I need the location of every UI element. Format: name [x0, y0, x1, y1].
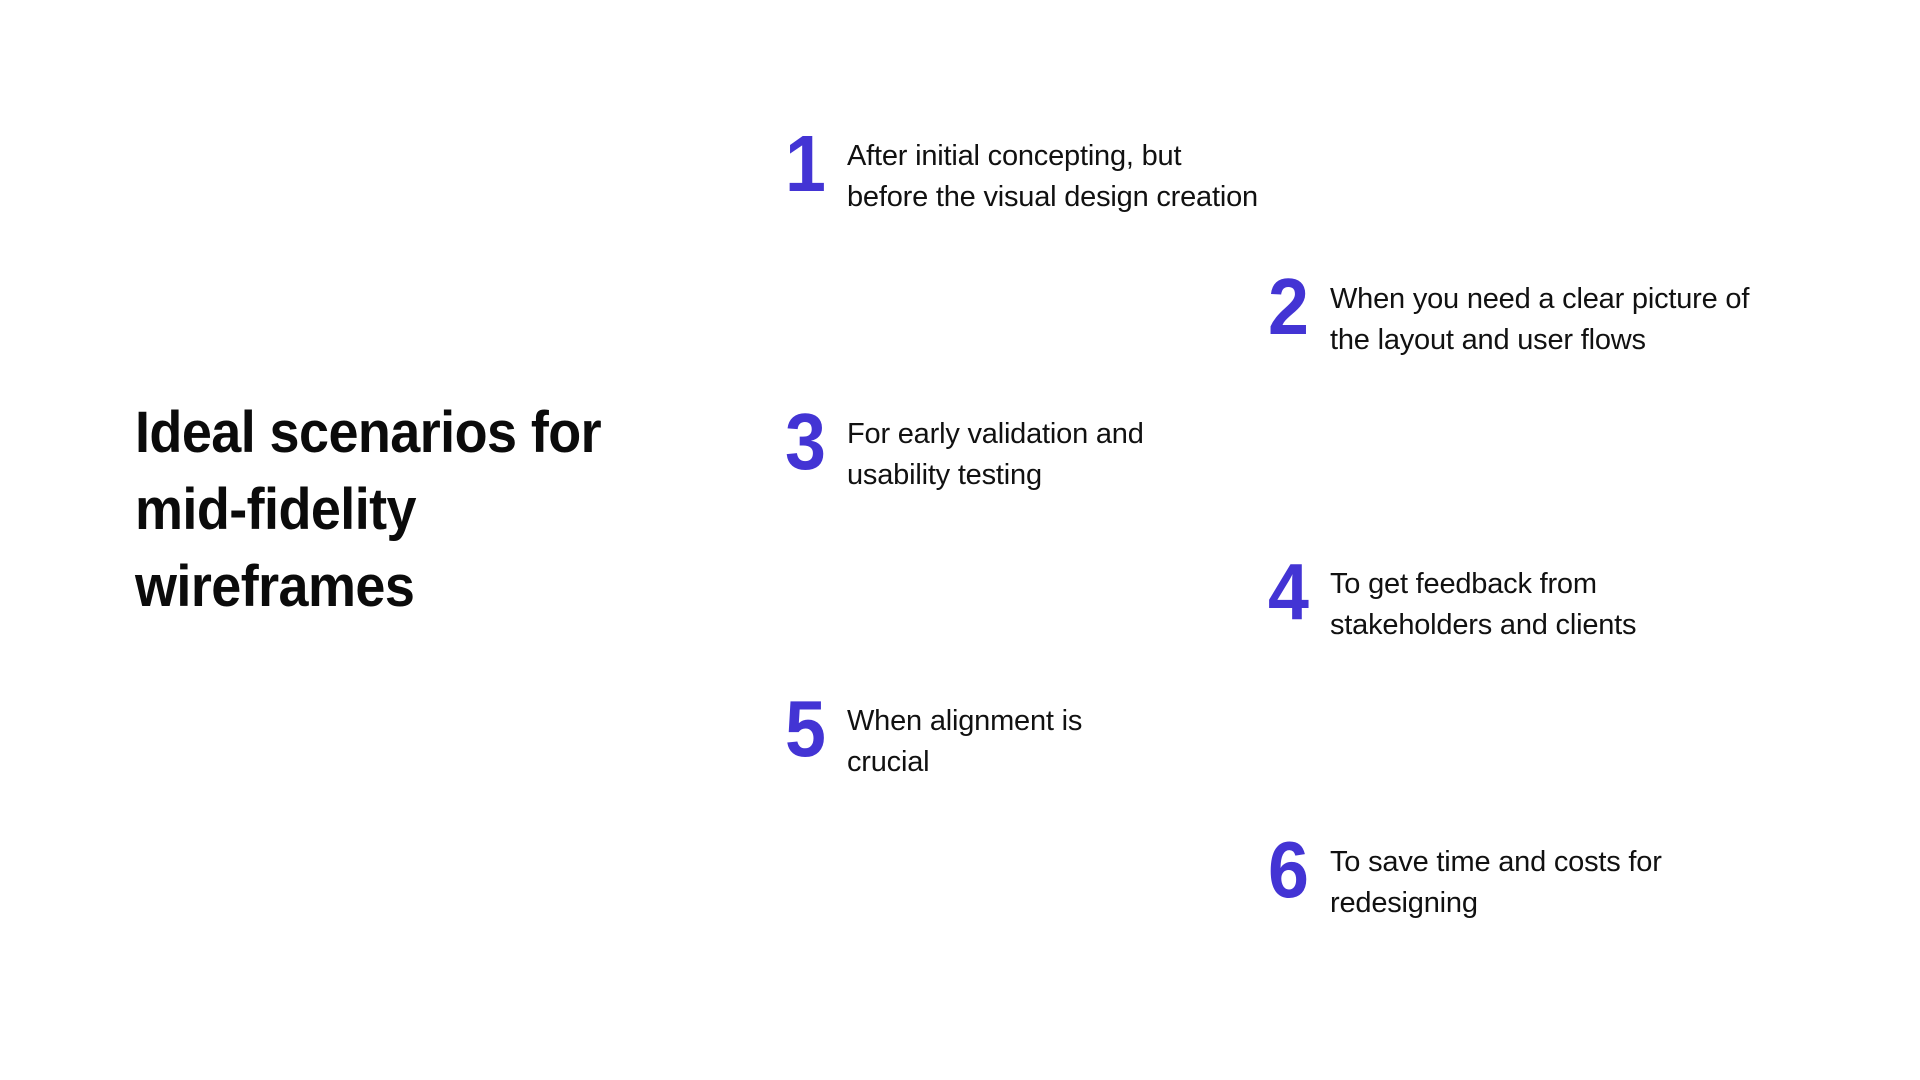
list-item-5: 5 When alignment is crucial — [785, 699, 1082, 783]
list-item-text-4: To get feedback from stakeholders and cl… — [1330, 562, 1636, 646]
list-item-text-6: To save time and costs for redesigning — [1330, 840, 1662, 924]
list-item-number-3: 3 — [785, 404, 842, 480]
list-item-number-5: 5 — [785, 691, 842, 767]
list-item-text-5: When alignment is crucial — [847, 699, 1082, 783]
list-item-text-1: After initial concepting, but before the… — [847, 134, 1258, 218]
list-item-text-3: For early validation and usability testi… — [847, 412, 1144, 496]
list-item-1: 1 After initial concepting, but before t… — [785, 134, 1258, 218]
scenario-list: 1 After initial concepting, but before t… — [0, 0, 1920, 1080]
list-item-2: 2 When you need a clear picture of the l… — [1268, 277, 1749, 361]
list-item-3: 3 For early validation and usability tes… — [785, 412, 1144, 496]
list-item-text-2: When you need a clear picture of the lay… — [1330, 277, 1749, 361]
slide-canvas: Ideal scenarios for mid-fidelity wirefra… — [0, 0, 1920, 1080]
list-item-4: 4 To get feedback from stakeholders and … — [1268, 562, 1636, 646]
list-item-6: 6 To save time and costs for redesigning — [1268, 840, 1662, 924]
list-item-number-1: 1 — [785, 126, 842, 202]
list-item-number-4: 4 — [1268, 554, 1325, 630]
list-item-number-2: 2 — [1268, 269, 1325, 345]
list-item-number-6: 6 — [1268, 832, 1325, 908]
